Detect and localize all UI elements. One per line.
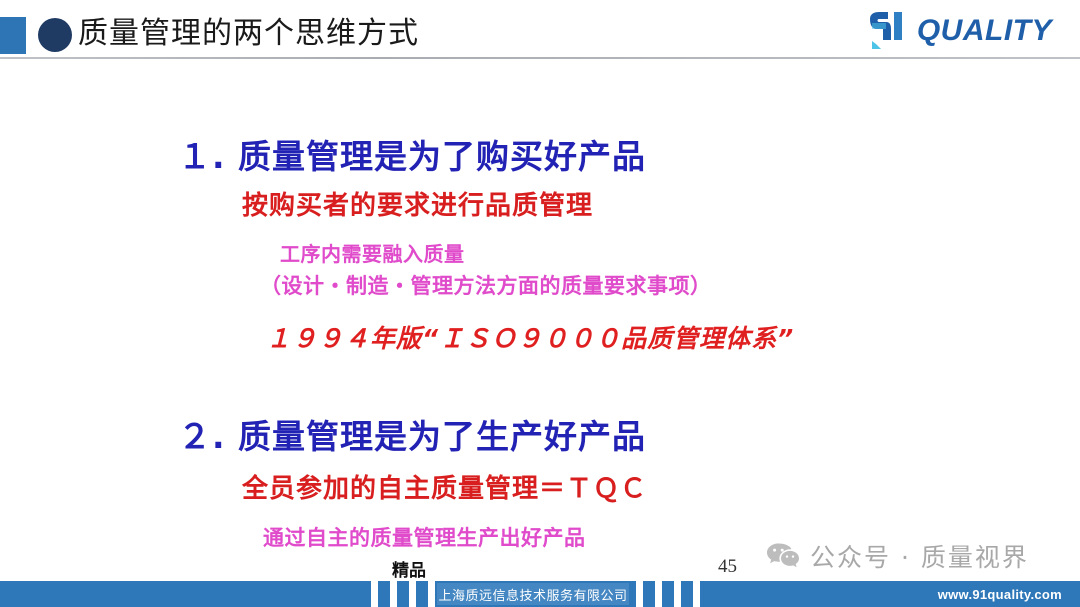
section-2-note-1: 通过自主的质量管理生产出好产品 — [263, 522, 586, 552]
footer-stripe — [655, 581, 662, 607]
brand-logo: QUALITY — [868, 9, 1052, 53]
page-title: 质量管理的两个思维方式 — [78, 13, 419, 55]
section-2-heading: ２. 质量管理是为了生产好产品 — [178, 410, 646, 458]
section-2-subtitle: 全员参加的自主质量管理＝ＴＱＣ — [242, 468, 647, 505]
footer-stripe — [636, 581, 643, 607]
footer-stripe — [428, 581, 435, 607]
page-number: 45 — [718, 556, 737, 578]
quality-watermark: 精品 — [392, 556, 426, 581]
slide-content: １. 质量管理是为了购买好产品 按购买者的要求进行品质管理 工序内需要融入质量 … — [0, 60, 1080, 540]
footer-stripe — [674, 581, 681, 607]
wechat-label: 公众号 · 质量视界 — [810, 538, 1029, 574]
section-1-emphasis: １９９４年版“ＩＳＯ９０００品质管理体系” — [266, 319, 794, 355]
footer-url[interactable]: www.91quality.com — [938, 581, 1062, 607]
footer-stripe — [693, 581, 700, 607]
slide-header: 质量管理的两个思维方式 QUALITY — [0, 0, 1080, 60]
footer-bar: 上海质远信息技术服务有限公司 www.91quality.com — [0, 581, 1080, 607]
section-1-note-1: 工序内需要融入质量 — [280, 238, 465, 267]
section-1-heading: １. 质量管理是为了购买好产品 — [178, 130, 646, 178]
filled-circle-icon — [38, 18, 72, 52]
91-logo-mark-icon — [868, 11, 910, 51]
section-1-subtitle: 按购买者的要求进行品质管理 — [242, 185, 593, 222]
footer-stripe — [371, 581, 378, 607]
slide-root: 质量管理的两个思维方式 QUALITY １. 质量管理是为了购买好产品 按购买者… — [0, 0, 1080, 607]
footer-stripe — [390, 581, 397, 607]
section-1-note-2: （设计・制造・管理方法方面的质量要求事项） — [260, 270, 712, 300]
footer-company-name: 上海质远信息技术服务有限公司 — [437, 583, 629, 605]
logo-text: QUALITY — [917, 14, 1052, 48]
wechat-watermark: 公众号 · 质量视界 — [766, 538, 1029, 574]
accent-bar-icon — [0, 17, 26, 54]
header-divider — [0, 57, 1080, 59]
footer-stripe — [409, 581, 416, 607]
wechat-icon — [766, 542, 800, 570]
